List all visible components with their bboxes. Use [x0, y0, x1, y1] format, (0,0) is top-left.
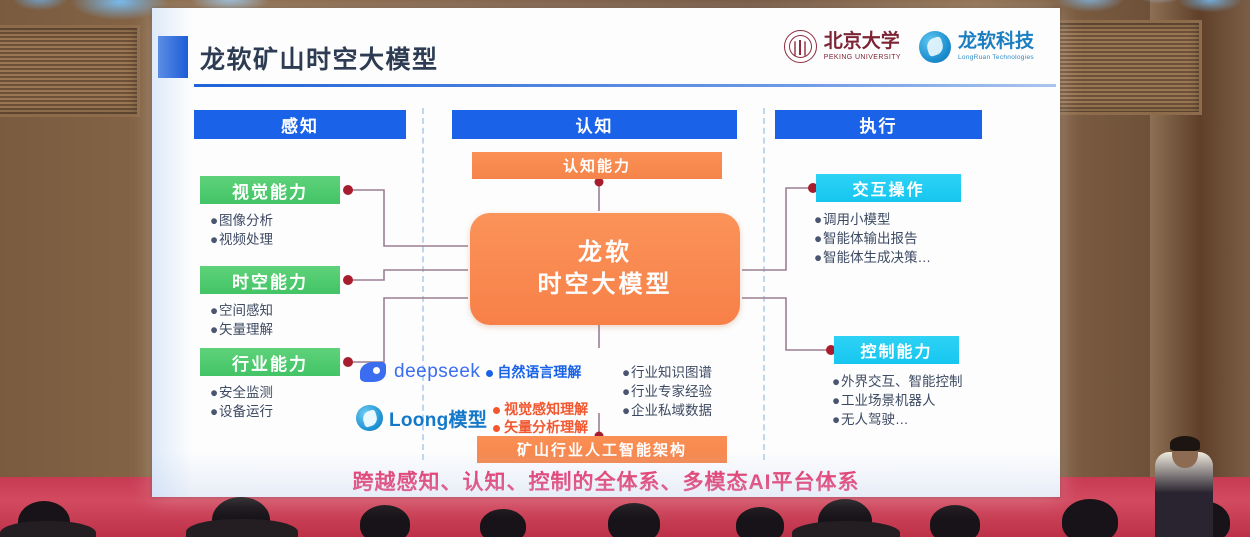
- audience-shoulders: [186, 519, 298, 537]
- title-underline: [194, 84, 1056, 87]
- audience-head: [608, 503, 660, 537]
- core-model-box: 龙软 时空大模型: [470, 213, 740, 325]
- bullet-item: 空间感知: [219, 303, 273, 318]
- bullet-item: 矢量理解: [219, 322, 273, 337]
- bullet-item: 调用小模型: [823, 212, 891, 227]
- bullet-list-control: ●外界交互、智能控制 ●工业场景机器人 ●无人驾驶…: [832, 372, 963, 429]
- bullet-item: 外界交互、智能控制: [841, 374, 963, 389]
- execution-chip-control: 控制能力: [834, 336, 959, 364]
- bullet-item: 图像分析: [219, 213, 273, 228]
- audience-head: [930, 505, 980, 537]
- core-line-2: 时空大模型: [538, 269, 673, 301]
- capability-chip-industry: 行业能力: [200, 348, 340, 376]
- air-vent-grille-left: [0, 25, 140, 117]
- bullet-list-industry: ●安全监测 ●设备运行: [210, 383, 273, 421]
- bullet-item: 智能体生成决策…: [823, 250, 931, 265]
- bullet-list-spatiotemporal: ●空间感知 ●矢量理解: [210, 301, 273, 339]
- bullet-item: 行业专家经验: [631, 384, 712, 399]
- audience-head: [360, 505, 410, 537]
- capability-chip-spatiotemporal: 时空能力: [200, 266, 340, 294]
- model-row-deepseek: deepseek 自然语言理解: [360, 360, 581, 384]
- note-text: 矢量分析理解: [504, 419, 588, 435]
- screen-glow-bottom: [152, 451, 1060, 497]
- logo-row: 北京大学 PEKING UNIVERSITY 龙软科技 LongRuan Tec…: [784, 30, 1034, 63]
- loong-label: Loong模型: [389, 405, 487, 432]
- projection-screen: 龙软矿山时空大模型 北京大学 PEKING UNIVERSITY 龙软科技 Lo…: [152, 8, 1060, 497]
- pku-name-en: PEKING UNIVERSITY: [824, 54, 901, 61]
- column-header-execution: 执行: [775, 110, 982, 139]
- bullet-item: 安全监测: [219, 385, 273, 400]
- deepseek-whale-icon: [360, 360, 388, 384]
- bullet-item: 设备运行: [219, 404, 273, 419]
- bullet-item: 智能体输出报告: [823, 231, 918, 246]
- audience-shoulders: [792, 521, 900, 537]
- deepseek-label: deepseek: [394, 361, 480, 383]
- bullet-list-vision: ●图像分析 ●视频处理: [210, 211, 273, 249]
- logo-longruan-technologies: 龙软科技 LongRuan Technologies: [919, 31, 1034, 63]
- air-vent-grille-right: [1050, 20, 1202, 115]
- deepseek-notes: 自然语言理解: [486, 363, 581, 381]
- pku-name-cn: 北京大学: [824, 32, 901, 51]
- peking-university-seal-icon: [784, 30, 817, 63]
- bullet-item: 工业场景机器人: [841, 393, 936, 408]
- longruan-dragon-icon: [919, 31, 951, 63]
- audience-shoulders: [0, 521, 96, 537]
- logo-peking-university: 北京大学 PEKING UNIVERSITY: [784, 30, 901, 63]
- column-divider-right: [763, 108, 765, 460]
- bullet-item: 行业知识图谱: [631, 365, 712, 380]
- capability-chip-vision: 视觉能力: [200, 176, 340, 204]
- loong-dragon-icon: [356, 405, 383, 431]
- longruan-name-en: LongRuan Technologies: [958, 54, 1034, 61]
- note-text: 视觉感知理解: [504, 401, 588, 417]
- bullet-list-interaction: ●调用小模型 ●智能体输出报告 ●智能体生成决策…: [814, 210, 931, 267]
- note-bullet-icon: [493, 407, 500, 414]
- staff-hair: [1170, 436, 1200, 451]
- bullet-list-knowledge: ●行业知识图谱 ●行业专家经验 ●企业私域数据: [622, 363, 712, 420]
- bullet-item: 无人驾驶…: [841, 412, 909, 427]
- note-text: 自然语言理解: [497, 364, 581, 380]
- execution-chip-interaction: 交互操作: [816, 174, 961, 202]
- longruan-name-cn: 龙软科技: [958, 32, 1034, 51]
- slide-title: 龙软矿山时空大模型: [200, 40, 439, 76]
- audience-head: [1062, 499, 1118, 537]
- loong-notes: 视觉感知理解 矢量分析理解: [493, 400, 588, 436]
- audience-head: [736, 507, 784, 537]
- column-header-perception: 感知: [194, 110, 406, 139]
- screen-glow-left: [152, 8, 192, 497]
- core-line-1: 龙软: [578, 237, 632, 269]
- cognition-capability-chip: 认知能力: [472, 152, 722, 179]
- model-row-loong: Loong模型 视觉感知理解 矢量分析理解: [356, 400, 588, 436]
- column-header-cognition: 认知: [452, 110, 737, 139]
- note-bullet-icon: [486, 370, 493, 377]
- note-bullet-icon: [493, 425, 500, 432]
- bullet-item: 视频处理: [219, 232, 273, 247]
- bullet-item: 企业私域数据: [631, 403, 712, 418]
- audience-head: [480, 509, 526, 537]
